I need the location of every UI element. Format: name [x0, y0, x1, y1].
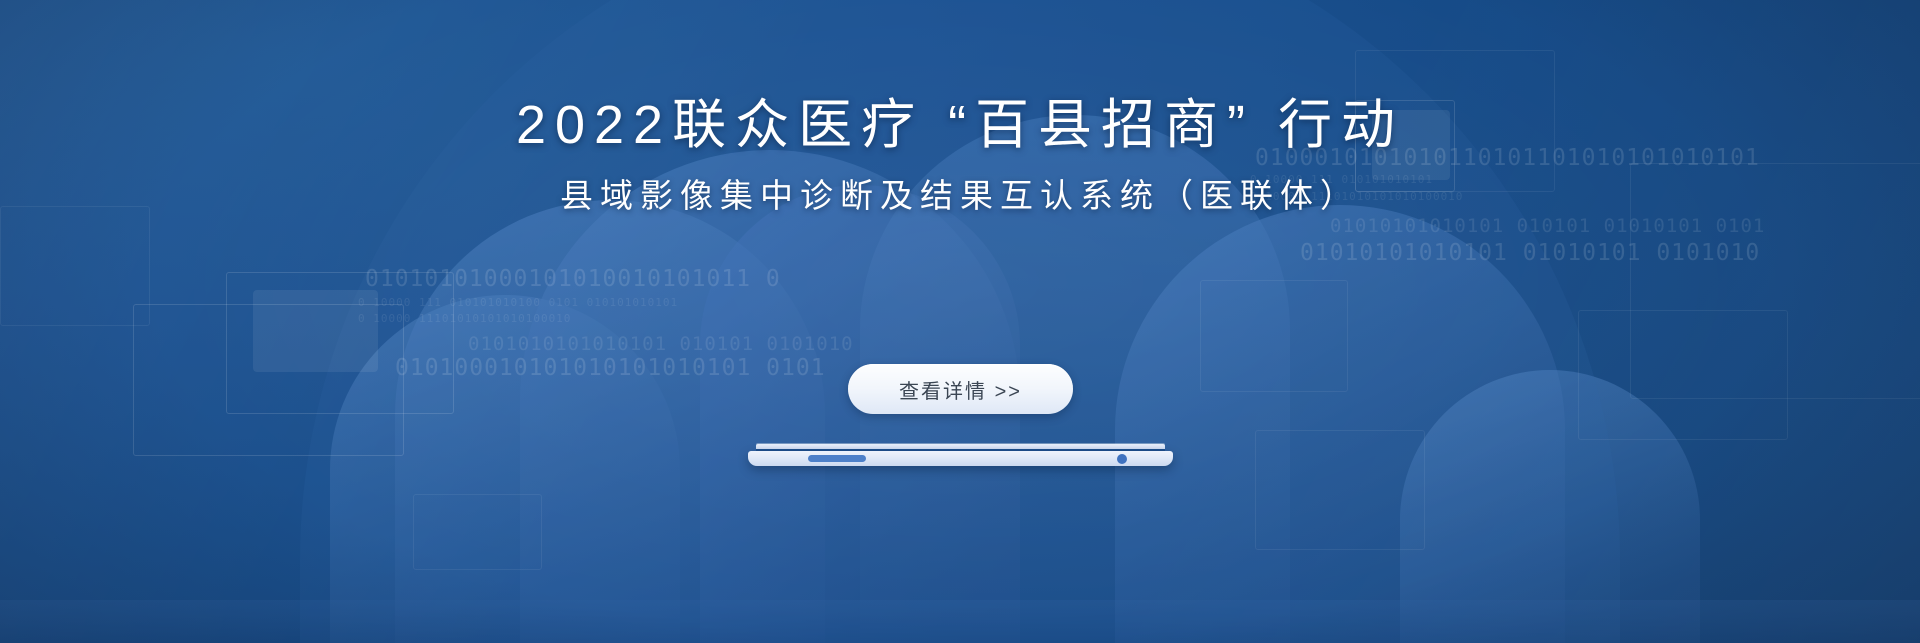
- decor-square-left: [253, 290, 378, 372]
- decor-rect-left-d: [0, 206, 150, 326]
- decor-rect-left-c: [413, 494, 542, 570]
- promo-banner: 01010101000101010010101011 0 0 10000 111…: [0, 0, 1920, 643]
- view-details-button[interactable]: 查看详情 >>: [848, 364, 1073, 414]
- laptop-indicator-dot: [1117, 454, 1127, 464]
- decor-rect-right-f: [1255, 430, 1425, 550]
- laptop-front-notch: [808, 455, 866, 462]
- decor-rect-right-e: [1578, 310, 1788, 440]
- decor-rect-right-c: [1200, 280, 1348, 392]
- banner-text-block: 2022联众医疗 “百县招商” 行动 县域影像集中诊断及结果互认系统（医联体）: [0, 96, 1920, 215]
- banner-subtitle: 县域影像集中诊断及结果互认系统（医联体）: [0, 178, 1920, 214]
- laptop-device-graphic: [748, 444, 1173, 468]
- banner-title: 2022联众医疗 “百县招商” 行动: [0, 96, 1920, 154]
